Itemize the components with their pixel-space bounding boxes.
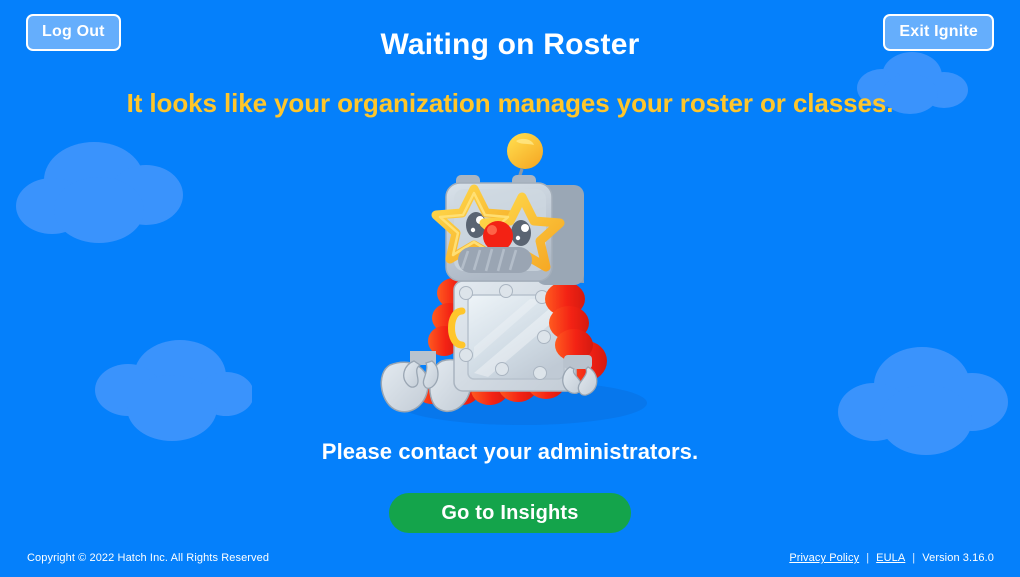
version-text: Version 3.16.0	[922, 552, 994, 564]
page-title: Waiting on Roster	[0, 28, 1020, 62]
page-subtitle: It looks like your organization manages …	[0, 88, 1020, 119]
copyright-text: Copyright © 2022 Hatch Inc. All Rights R…	[27, 552, 269, 564]
footer-links: Privacy Policy | EULA | Version 3.16.0	[789, 552, 994, 564]
robot-head	[436, 133, 584, 285]
waiting-on-roster-screen: Log Out Exit Ignite Waiting on Roster It…	[0, 0, 1020, 577]
robot-mascot-svg	[370, 133, 660, 428]
antenna-ball	[507, 133, 543, 169]
robot-mouth	[458, 247, 532, 273]
eula-link[interactable]: EULA	[876, 552, 905, 564]
cloud-left-lower	[80, 338, 252, 444]
robot-right-eye	[511, 220, 531, 246]
cloud-left-upper	[14, 140, 194, 248]
go-to-insights-button[interactable]: Go to Insights	[389, 493, 631, 533]
contact-message: Please contact your administrators.	[0, 439, 1020, 465]
footer-separator-2: |	[912, 552, 915, 564]
robot-illustration	[370, 133, 660, 428]
footer-separator-1: |	[866, 552, 869, 564]
privacy-policy-link[interactable]: Privacy Policy	[789, 552, 859, 564]
clown-nose	[483, 221, 513, 251]
